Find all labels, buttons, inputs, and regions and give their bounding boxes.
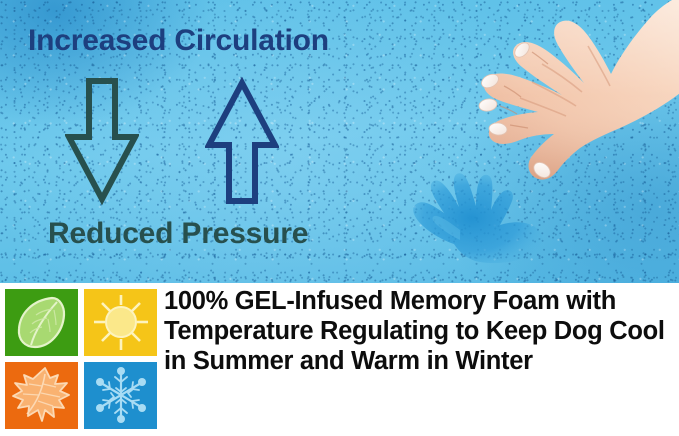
headline-reduced-pressure: Reduced Pressure [48,217,308,251]
leaf-icon [5,289,78,356]
promo-description: 100% GEL-Infused Memory Foam with Temper… [164,287,676,377]
up-arrow-icon [205,77,279,212]
product-feature-graphic: Increased Circulation Reduced Pressure [0,0,679,436]
headline-increased-circulation: Increased Circulation [28,24,329,58]
memory-foam-photo: Increased Circulation Reduced Pressure [0,0,679,283]
snowflake-icon [84,362,157,429]
hand-pressing-foam [392,0,679,214]
season-tile-spring [5,289,78,356]
season-tile-autumn [5,362,78,429]
season-icon-grid [5,289,157,430]
maple-leaf-icon [5,362,78,429]
sun-icon [84,289,157,356]
season-tile-winter [84,362,157,429]
down-arrow-icon [65,77,139,212]
feature-callout-band: 100% GEL-Infused Memory Foam with Temper… [0,283,679,436]
season-tile-summer [84,289,157,356]
